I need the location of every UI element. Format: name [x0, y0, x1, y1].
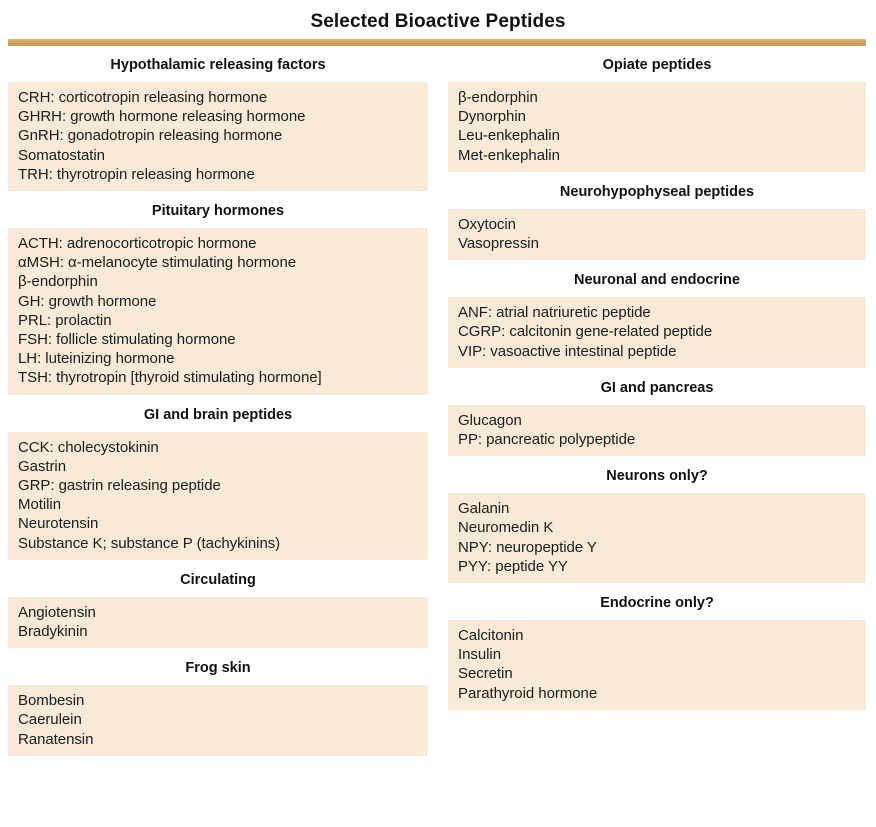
section-heading: Circulating: [8, 560, 428, 597]
list-item: Substance K; substance P (tachykinins): [18, 534, 418, 553]
list-item: Bombesin: [18, 691, 418, 710]
list-item: Oxytocin: [458, 215, 856, 234]
section-heading: Neuronal and endocrine: [448, 260, 866, 297]
list-item: Insulin: [458, 645, 856, 664]
section: Opiate peptidesβ-endorphinDynorphinLeu-e…: [448, 46, 866, 172]
list-item: ACTH: adrenocorticotropic hormone: [18, 234, 418, 253]
section-panel: GalaninNeuromedin KNPY: neuropeptide YPY…: [448, 493, 866, 583]
list-item: Parathyroid hormone: [458, 684, 856, 703]
list-item: Neuromedin K: [458, 518, 856, 537]
section-heading: GI and brain peptides: [8, 395, 428, 432]
list-item: PRL: prolactin: [18, 311, 418, 330]
figure-root: Selected Bioactive Peptides Hypothalamic…: [0, 0, 876, 827]
list-item: GHRH: growth hormone releasing hormone: [18, 107, 418, 126]
list-item: Somatostatin: [18, 146, 418, 165]
list-item: Secretin: [458, 664, 856, 683]
list-item: Galanin: [458, 499, 856, 518]
section: GI and brain peptidesCCK: cholecystokini…: [8, 395, 428, 560]
list-item: Glucagon: [458, 411, 856, 430]
section-heading: GI and pancreas: [448, 368, 866, 405]
section-panel: BombesinCaeruleinRanatensin: [8, 685, 428, 756]
list-item: LH: luteinizing hormone: [18, 349, 418, 368]
list-item: Bradykinin: [18, 622, 418, 641]
list-item: β-endorphin: [18, 272, 418, 291]
list-item: GH: growth hormone: [18, 292, 418, 311]
section-heading: Frog skin: [8, 648, 428, 685]
figure-title: Selected Bioactive Peptides: [0, 0, 876, 33]
list-item: ANF: atrial natriuretic peptide: [458, 303, 856, 322]
list-item: CCK: cholecystokinin: [18, 438, 418, 457]
list-item: PP: pancreatic polypeptide: [458, 430, 856, 449]
list-item: Leu-enkephalin: [458, 126, 856, 145]
section: CirculatingAngiotensinBradykinin: [8, 560, 428, 648]
list-item: Caerulein: [18, 710, 418, 729]
section-heading: Opiate peptides: [448, 46, 866, 82]
section-panel: CRH: corticotropin releasing hormoneGHRH…: [8, 82, 428, 191]
two-column-layout: Hypothalamic releasing factorsCRH: corti…: [0, 46, 876, 756]
section: GI and pancreasGlucagonPP: pancreatic po…: [448, 368, 866, 456]
section: Endocrine only?CalcitoninInsulinSecretin…: [448, 583, 866, 710]
list-item: TSH: thyrotropin [thyroid stimulating ho…: [18, 368, 418, 387]
list-item: CRH: corticotropin releasing hormone: [18, 88, 418, 107]
section-heading: Pituitary hormones: [8, 191, 428, 228]
list-item: VIP: vasoactive intestinal peptide: [458, 342, 856, 361]
list-item: Angiotensin: [18, 603, 418, 622]
section: Pituitary hormonesACTH: adrenocorticotro…: [8, 191, 428, 395]
list-item: Neurotensin: [18, 514, 418, 533]
section: Neurohypophyseal peptidesOxytocinVasopre…: [448, 172, 866, 260]
list-item: Calcitonin: [458, 626, 856, 645]
section-heading: Neurons only?: [448, 456, 866, 493]
section-panel: GlucagonPP: pancreatic polypeptide: [448, 405, 866, 456]
list-item: GRP: gastrin releasing peptide: [18, 476, 418, 495]
section-panel: AngiotensinBradykinin: [8, 597, 428, 648]
section-panel: ACTH: adrenocorticotropic hormoneαMSH: α…: [8, 228, 428, 395]
list-item: Ranatensin: [18, 730, 418, 749]
list-item: CGRP: calcitonin gene-related peptide: [458, 322, 856, 341]
right-column: Opiate peptidesβ-endorphinDynorphinLeu-e…: [440, 46, 876, 710]
list-item: FSH: follicle stimulating hormone: [18, 330, 418, 349]
section-panel: CCK: cholecystokininGastrinGRP: gastrin …: [8, 432, 428, 560]
section-panel: ANF: atrial natriuretic peptideCGRP: cal…: [448, 297, 866, 368]
list-item: β-endorphin: [458, 88, 856, 107]
list-item: Vasopressin: [458, 234, 856, 253]
section-panel: OxytocinVasopressin: [448, 209, 866, 260]
list-item: Motilin: [18, 495, 418, 514]
section-panel: CalcitoninInsulinSecretinParathyroid hor…: [448, 620, 866, 710]
list-item: αMSH: α-melanocyte stimulating hormone: [18, 253, 418, 272]
list-item: PYY: peptide YY: [458, 557, 856, 576]
section: Frog skinBombesinCaeruleinRanatensin: [8, 648, 428, 756]
section-heading: Neurohypophyseal peptides: [448, 172, 866, 209]
left-column: Hypothalamic releasing factorsCRH: corti…: [0, 46, 440, 756]
section: Hypothalamic releasing factorsCRH: corti…: [8, 46, 428, 191]
list-item: Met-enkephalin: [458, 146, 856, 165]
section: Neuronal and endocrineANF: atrial natriu…: [448, 260, 866, 368]
section-panel: β-endorphinDynorphinLeu-enkephalinMet-en…: [448, 82, 866, 172]
list-item: Dynorphin: [458, 107, 856, 126]
list-item: TRH: thyrotropin releasing hormone: [18, 165, 418, 184]
section: Neurons only?GalaninNeuromedin KNPY: neu…: [448, 456, 866, 583]
list-item: GnRH: gonadotropin releasing hormone: [18, 126, 418, 145]
section-heading: Endocrine only?: [448, 583, 866, 620]
list-item: NPY: neuropeptide Y: [458, 538, 856, 557]
title-accent-rule: [8, 39, 866, 46]
list-item: Gastrin: [18, 457, 418, 476]
section-heading: Hypothalamic releasing factors: [8, 46, 428, 82]
